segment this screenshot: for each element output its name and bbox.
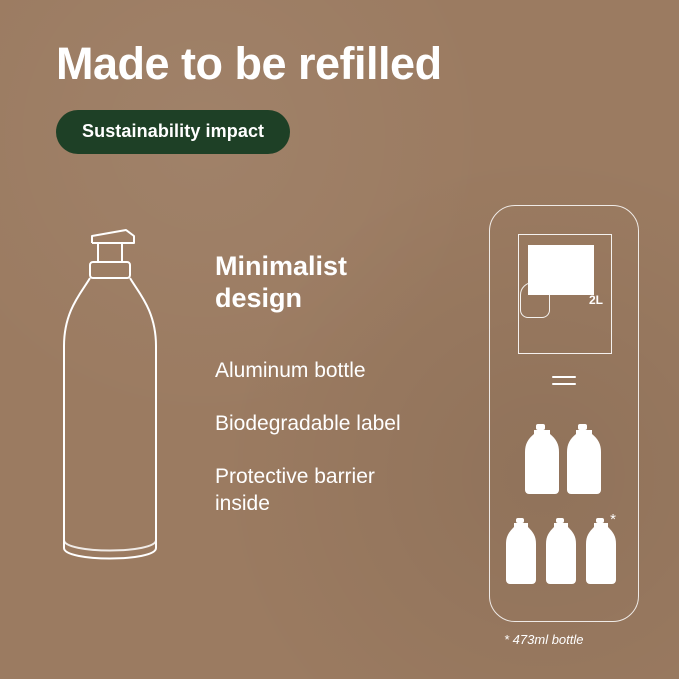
- equals-symbol: [552, 376, 576, 390]
- pouch-icon: [520, 282, 550, 318]
- feature-title: Minimalist design: [215, 250, 405, 315]
- feature-list: Aluminum bottle Biodegradable label Prot…: [215, 358, 420, 544]
- refill-comparison-panel: 2L: [489, 205, 639, 622]
- equals-bar-top: [552, 376, 576, 378]
- pump-bottle-icon: [48, 218, 208, 588]
- poster: Made to be refilled Sustainability impac…: [0, 0, 679, 679]
- list-item: Aluminum bottle: [215, 358, 420, 385]
- list-item: Biodegradable label: [215, 411, 420, 438]
- footnote-asterisk: *: [610, 511, 616, 528]
- footnote-text: * 473ml bottle: [504, 632, 584, 647]
- equals-bar-bottom: [552, 383, 576, 385]
- bottle-row-top: [490, 424, 638, 496]
- list-item: Protective barrier inside: [215, 464, 420, 518]
- page-title: Made to be refilled: [56, 40, 442, 87]
- status-badge: Sustainability impact: [56, 110, 290, 154]
- refill-size-label: 2L: [589, 293, 603, 307]
